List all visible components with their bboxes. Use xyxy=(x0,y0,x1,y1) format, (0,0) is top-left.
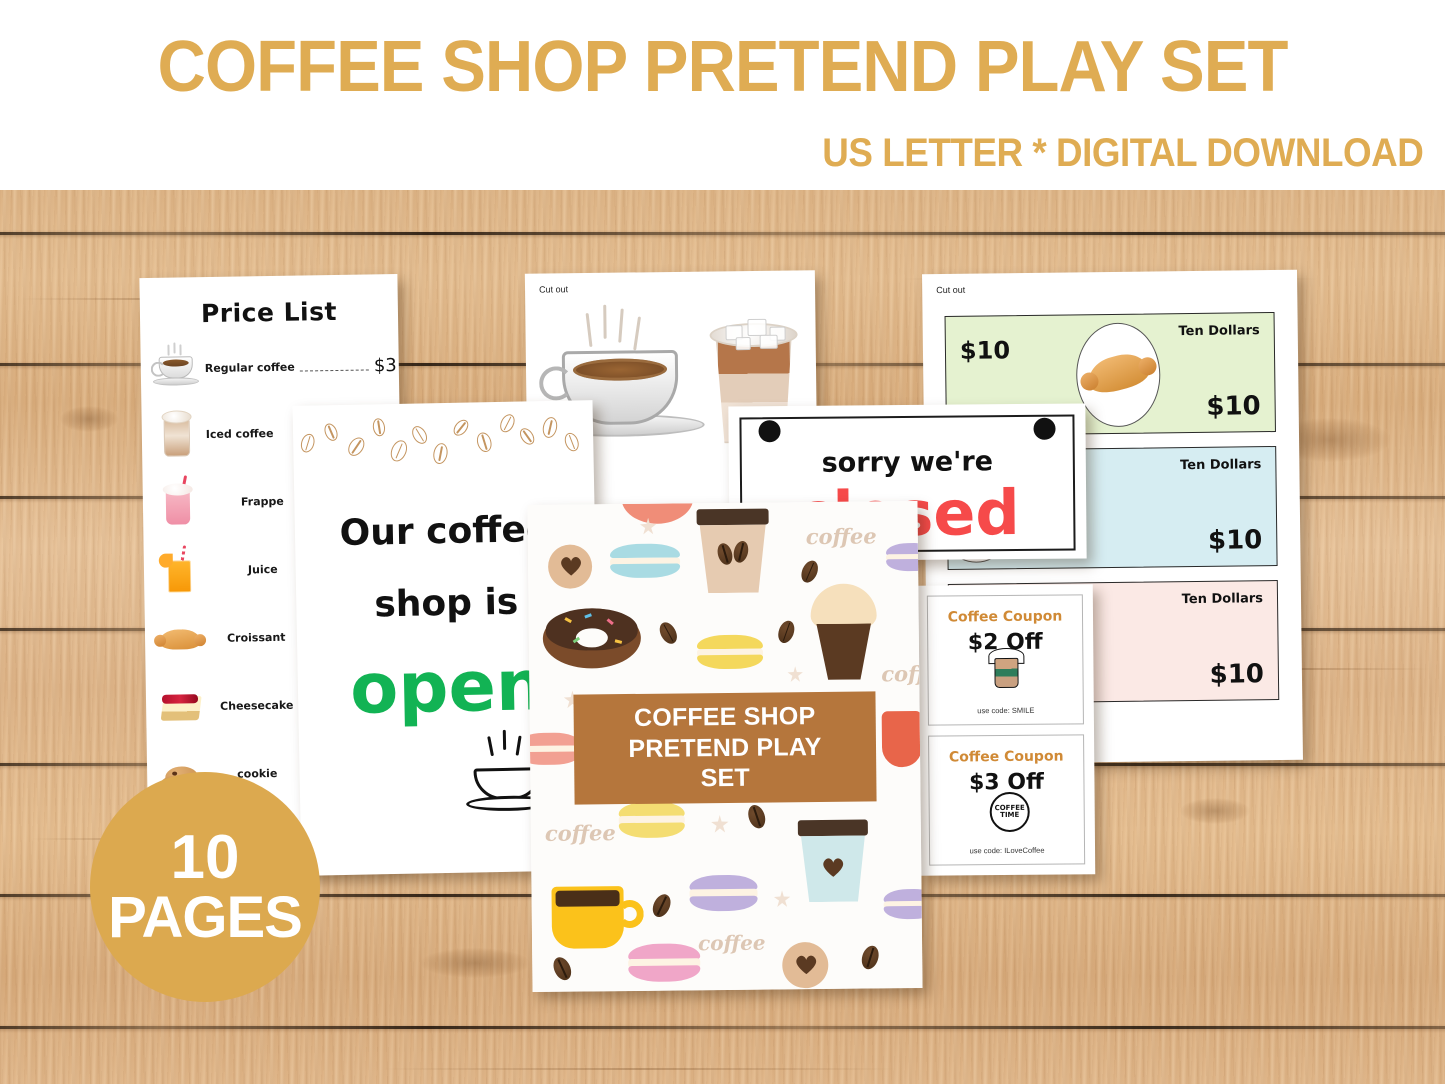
macaron-icon xyxy=(697,635,763,670)
macaron-icon xyxy=(527,733,580,766)
cut-out-label: Cut out xyxy=(936,285,965,295)
coffee-word: coffee xyxy=(881,661,922,687)
cover-title-line2: PRETEND PLAY xyxy=(628,733,821,763)
juice-glass-icon xyxy=(154,544,205,597)
bill-words: Ten Dollars xyxy=(1182,591,1263,607)
price-item-name: Iced coffee xyxy=(206,426,274,440)
coupon-code: use code: SMILE xyxy=(929,705,1083,715)
yellow-mug-icon xyxy=(551,886,624,949)
cupcake-icon xyxy=(810,583,876,630)
cupcake-base xyxy=(813,623,876,680)
wood-knot xyxy=(60,406,118,432)
punch-hole xyxy=(1033,418,1055,440)
coupons-page[interactable]: Coffee Coupon $2 Off use code: SMILE Cof… xyxy=(917,584,1096,876)
coupon-card[interactable]: Coffee Coupon $3 Off COFFEETIME use code… xyxy=(928,734,1085,865)
macaron-icon xyxy=(689,875,757,912)
donut-icon xyxy=(543,608,642,669)
coffee-bean-icon xyxy=(859,944,881,972)
coffee-bean-icon xyxy=(656,619,680,646)
cover-page[interactable]: coffee coffee xyxy=(527,501,922,992)
macaron-icon xyxy=(610,543,680,578)
price-item-name: Cheesecake xyxy=(220,698,293,712)
closed-sign-line1: sorry we're xyxy=(729,445,1086,479)
price-item-value: $3 xyxy=(374,355,397,376)
coupon-title: Coffee Coupon xyxy=(928,608,1082,625)
red-cup-icon xyxy=(882,711,923,767)
price-item-name: Regular coffee xyxy=(205,360,295,374)
heart-circle-icon xyxy=(782,942,828,988)
croissant-icon xyxy=(155,612,206,665)
plank-seam xyxy=(0,1026,1445,1029)
cheesecake-icon xyxy=(156,680,207,733)
price-item-name: Croissant xyxy=(227,630,286,644)
cover-title-text: COFFEE SHOP PRETEND PLAY SET xyxy=(628,701,822,795)
frappe-icon xyxy=(153,476,204,529)
cover-title-line3: SET xyxy=(701,764,751,793)
heart-circle-icon xyxy=(548,544,592,588)
coupon-code: use code: ILoveCoffee xyxy=(930,845,1084,855)
coffee-bean-icon xyxy=(745,803,768,831)
mug-handle xyxy=(616,900,644,928)
star-icon xyxy=(711,815,729,833)
coffee-bean-border xyxy=(293,406,594,480)
page-title: COFFEE SHOP PRETEND PLAY SET xyxy=(51,26,1395,108)
wood-grain xyxy=(380,1068,900,1070)
wood-knot xyxy=(420,948,530,978)
coffee-bean-icon xyxy=(550,954,575,982)
coffee-cup-icon xyxy=(801,820,866,903)
page-subtitle: US LETTER * DIGITAL DOWNLOAD xyxy=(822,131,1423,176)
wood-knot xyxy=(1180,798,1250,824)
coffee-bean-icon xyxy=(798,558,821,585)
bill-words: Ten Dollars xyxy=(1180,457,1261,473)
bowl-icon xyxy=(621,501,693,524)
price-item-name: Frappe xyxy=(241,494,284,508)
coupon-title: Coffee Coupon xyxy=(929,748,1083,765)
bill-amount: $10 xyxy=(960,336,1010,365)
macaron-icon xyxy=(886,543,923,572)
macaron-icon xyxy=(884,889,923,920)
punch-hole xyxy=(758,420,780,442)
bill-amount: $10 xyxy=(1206,391,1261,422)
macaron-icon xyxy=(619,801,685,838)
coffee-cup-icon xyxy=(700,509,767,594)
star-icon xyxy=(774,890,791,907)
price-list-title: Price List xyxy=(140,296,398,329)
price-item-name: Juice xyxy=(248,562,278,575)
coffee-word: coffee xyxy=(806,523,877,549)
price-row: Regular coffee $3 xyxy=(150,336,397,398)
frappuccino-cup-icon xyxy=(994,658,1018,688)
plank-seam xyxy=(0,232,1445,235)
coffee-bean-icon xyxy=(775,619,797,646)
bill-words: Ten Dollars xyxy=(1178,323,1259,339)
bill-amount: $10 xyxy=(1208,525,1263,556)
page-count-badge: 10 PAGES xyxy=(90,772,320,1002)
leader-line xyxy=(300,369,369,371)
coffee-time-logo-icon: COFFEETIME xyxy=(990,792,1030,832)
croissant-icon xyxy=(1076,322,1161,427)
cover-title-line1: COFFEE SHOP xyxy=(634,702,816,732)
coffee-word: coffee xyxy=(698,931,766,956)
page-count-label: PAGES xyxy=(108,889,302,947)
hot-coffee-cup-icon xyxy=(150,342,201,395)
coffee-word: coffee xyxy=(545,820,616,846)
page-count-number: 10 xyxy=(171,827,240,889)
header-banner: COFFEE SHOP PRETEND PLAY SET US LETTER *… xyxy=(0,0,1445,190)
cut-out-label: Cut out xyxy=(539,284,568,294)
coupon-card[interactable]: Coffee Coupon $2 Off use code: SMILE xyxy=(927,594,1084,725)
cover-title-banner: COFFEE SHOP PRETEND PLAY SET xyxy=(573,691,876,804)
bill-amount: $10 xyxy=(1209,659,1264,690)
star-icon xyxy=(787,666,803,682)
iced-coffee-icon xyxy=(151,408,202,461)
coffee-bean-icon xyxy=(649,891,674,920)
macaron-icon xyxy=(628,943,700,982)
